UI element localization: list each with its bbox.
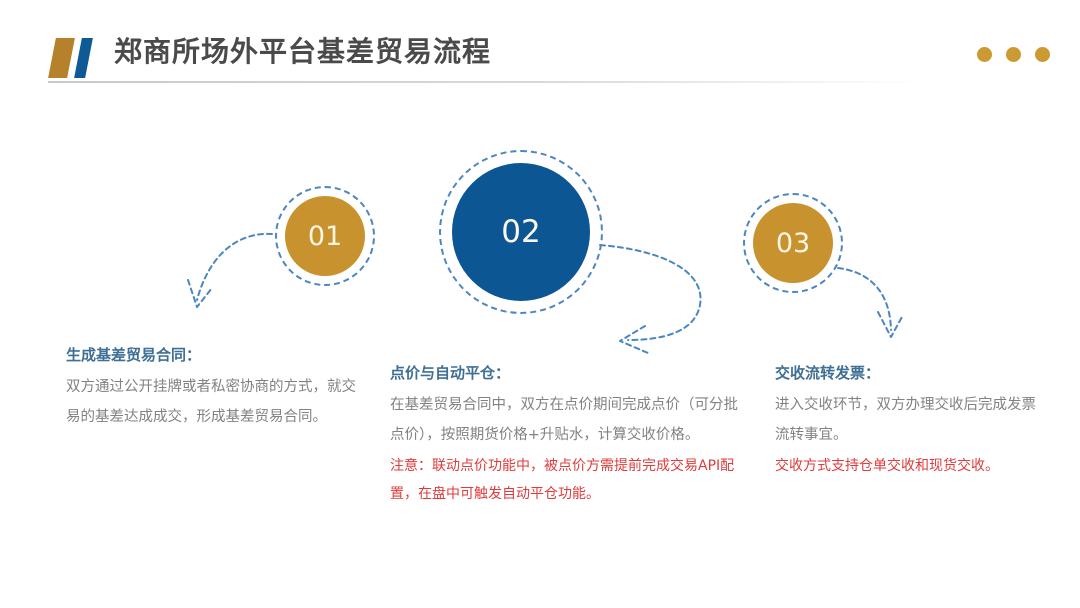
step-03-number: 03 (776, 228, 810, 259)
step-01-body: 双方通过公开挂牌或者私密协商的方式，就交易的基差达成成交，形成基差贸易合同。 (66, 372, 366, 432)
step-03-circle[interactable]: 03 (753, 203, 833, 283)
step-01-number: 01 (308, 221, 342, 252)
step-03-note: 交收方式支持仓单交收和现货交收。 (775, 452, 1045, 480)
step-02-text-block: 点价与自动平仓： 在基差贸易合同中，双方在点价期间完成点价（可分批点价），按照期… (390, 360, 738, 508)
step-02-body: 在基差贸易合同中，双方在点价期间完成点价（可分批点价），按照期货价格+升贴水，计… (390, 390, 738, 450)
slide-canvas: 郑商所场外平台基差贸易流程 (0, 0, 1080, 608)
header-dot-3 (1035, 47, 1050, 62)
header-divider (48, 81, 928, 83)
step-02-title: 点价与自动平仓： (390, 360, 738, 386)
slide-header: 郑商所场外平台基差贸易流程 (0, 0, 1080, 100)
brand-mark-gold-bar (48, 38, 75, 78)
brand-mark-icon (50, 38, 106, 78)
step-01-circle[interactable]: 01 (285, 196, 365, 276)
step-02-circle[interactable]: 02 (452, 163, 590, 301)
arrow-from-step-03-icon (838, 268, 903, 337)
header-dot-2 (1006, 47, 1021, 62)
step-02-note: 注意：联动点价功能中，被点价方需提前完成交易API配置，在盘中可触发自动平仓功能… (390, 452, 738, 508)
step-01-text-block: 生成基差贸易合同： 双方通过公开挂牌或者私密协商的方式，就交易的基差达成成交，形… (66, 342, 366, 432)
step-02-number: 02 (501, 214, 540, 250)
step-03-title: 交收流转发票： (775, 360, 1045, 386)
step-01-title: 生成基差贸易合同： (66, 342, 366, 368)
page-title: 郑商所场外平台基差贸易流程 (114, 33, 491, 71)
arrow-from-step-02-icon (600, 245, 701, 353)
header-dots-decoration (977, 47, 1050, 62)
header-dot-1 (977, 47, 992, 62)
step-03-body: 进入交收环节，双方办理交收后完成发票流转事宜。 (775, 390, 1045, 450)
arrow-from-step-01-icon (188, 234, 272, 307)
brand-mark-blue-bar (74, 38, 93, 78)
step-03-text-block: 交收流转发票： 进入交收环节，双方办理交收后完成发票流转事宜。 交收方式支持仓单… (775, 360, 1045, 480)
